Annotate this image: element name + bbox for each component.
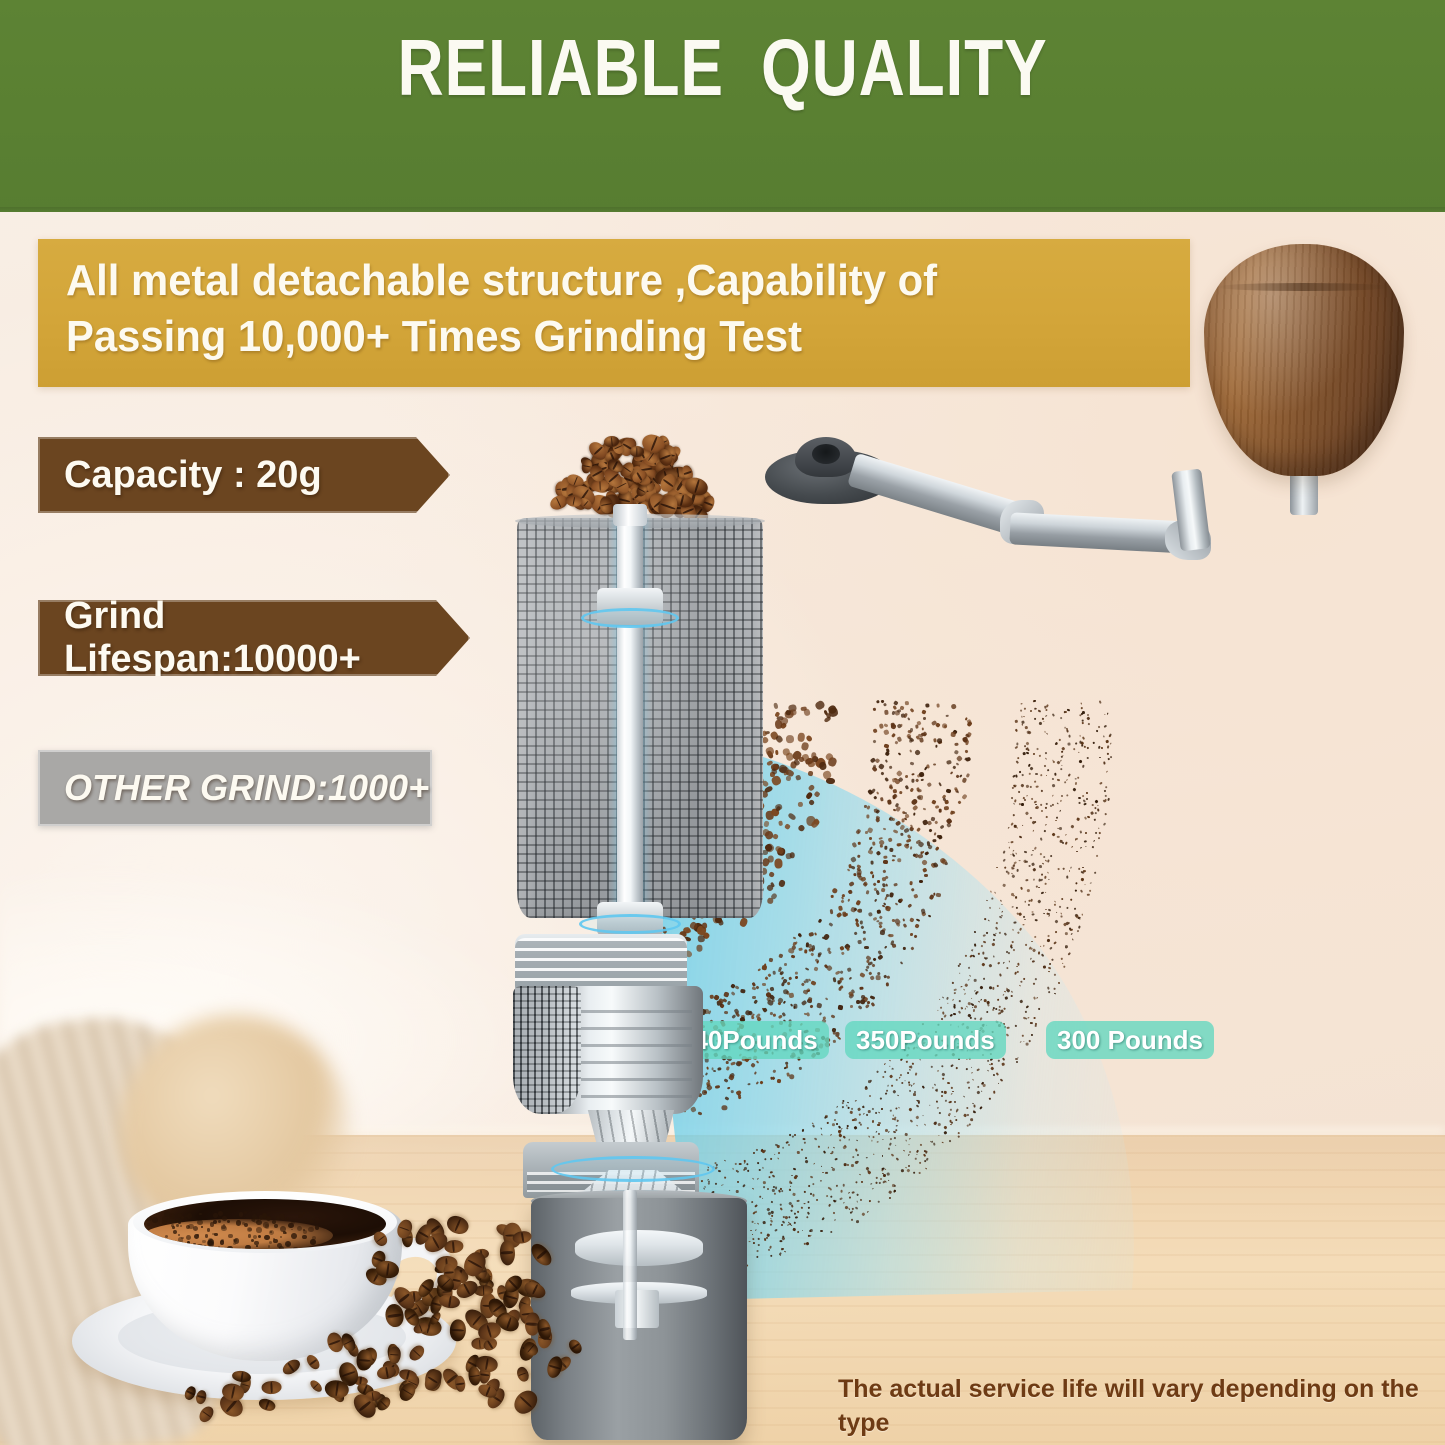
- page-title: RELIABLE QUALITY: [145, 22, 1301, 114]
- crema-bubble: [312, 1216, 314, 1218]
- pressure-pill-300: 300 Pounds: [1046, 1021, 1214, 1059]
- crema-bubble: [199, 1213, 202, 1216]
- coffee-bean: [630, 446, 645, 457]
- crema-bubble: [193, 1243, 195, 1245]
- crema-bubble: [256, 1227, 262, 1233]
- crema-bubble: [274, 1224, 277, 1227]
- crema-bubble: [234, 1238, 240, 1244]
- center-shaft: [617, 512, 643, 958]
- crema-bubble: [247, 1227, 252, 1232]
- crema-bubble: [178, 1234, 180, 1236]
- crema-bubble: [307, 1211, 309, 1213]
- crema-bubble: [170, 1214, 172, 1216]
- crema-bubble: [256, 1245, 258, 1247]
- crema-bubble: [186, 1235, 191, 1240]
- crema-bubble: [147, 1223, 150, 1226]
- crema-bubble: [279, 1214, 284, 1219]
- feature-banner-text: All metal detachable structure ,Capabili…: [66, 253, 1111, 365]
- crema-bubble: [221, 1225, 226, 1230]
- crema-bubble: [315, 1217, 321, 1223]
- shaft-top-cap: [613, 504, 647, 526]
- crema-bubble: [293, 1247, 298, 1249]
- crema-bubble: [303, 1212, 305, 1214]
- threaded-collar-upper: [515, 934, 687, 994]
- blue-ring-lower: [579, 914, 681, 934]
- crema-bubble: [187, 1213, 193, 1219]
- crema-bubble: [305, 1218, 307, 1220]
- grinder-assembly: [505, 430, 805, 1440]
- spec-banner-other-grind: OTHER GRIND:1000+: [38, 750, 432, 826]
- crema-bubble: [291, 1233, 297, 1239]
- crema-bubble: [227, 1220, 230, 1223]
- crema-bubble: [310, 1239, 316, 1245]
- crema-bubble: [194, 1234, 199, 1239]
- crema-bubble: [286, 1217, 289, 1220]
- catch-cup-shaft-stub: [623, 1190, 637, 1340]
- crema-bubble: [210, 1222, 214, 1226]
- crema-bubble: [221, 1239, 224, 1242]
- crema-bubble: [288, 1223, 293, 1228]
- crema-bubble: [310, 1220, 314, 1224]
- blue-ring-upper: [581, 608, 679, 628]
- crema-bubble: [236, 1220, 241, 1225]
- crema-bubble: [298, 1214, 303, 1219]
- coffee-bean: [388, 1346, 401, 1364]
- blue-ring-burr-upper: [551, 1156, 715, 1182]
- crema-bubble: [303, 1230, 307, 1234]
- crema-bubble: [264, 1235, 270, 1241]
- crema-bubble: [214, 1233, 218, 1237]
- crema-bubble: [147, 1215, 152, 1220]
- coffee-surface: [144, 1199, 386, 1249]
- pressure-pill-300-label: 300 Pounds: [1057, 1025, 1203, 1056]
- crema-bubble: [187, 1241, 191, 1245]
- crema-bubble: [297, 1226, 302, 1231]
- crank-hub-socket: [812, 444, 840, 464]
- crema-bubble: [279, 1246, 285, 1249]
- crema-bubble: [253, 1217, 259, 1223]
- spec-banner-grind-lifespan: Grind Lifespan:10000+: [38, 600, 470, 676]
- crema-bubble: [308, 1227, 313, 1232]
- pressure-pill-350-label: 350Pounds: [856, 1025, 995, 1056]
- crema-bubble: [167, 1246, 173, 1249]
- crema-bubble: [254, 1241, 259, 1246]
- spec-label-capacity: Capacity : 20g: [64, 454, 322, 497]
- crema-bubble: [244, 1211, 247, 1214]
- crema-bubble: [218, 1246, 220, 1248]
- pressure-pill-350: 350Pounds: [845, 1021, 1006, 1059]
- header-band: RELIABLE QUALITY: [0, 0, 1445, 212]
- crema-bubble: [285, 1241, 291, 1247]
- crema-bubble: [218, 1220, 221, 1223]
- crema-bubble: [245, 1245, 251, 1249]
- spec-banner-capacity: Capacity : 20g: [38, 437, 450, 513]
- crema-bubble: [222, 1216, 227, 1221]
- crema-bubble: [208, 1238, 213, 1243]
- crema-bubble: [262, 1213, 268, 1219]
- crema-bubble: [152, 1217, 158, 1223]
- feature-banner: All metal detachable structure ,Capabili…: [38, 239, 1190, 387]
- crema-bubble: [263, 1222, 269, 1228]
- product-infographic: RELIABLE QUALITY All metal detachable st…: [0, 0, 1445, 1445]
- textured-grind-ring: [513, 986, 703, 1114]
- spec-label-other-grind: OTHER GRIND:1000+: [64, 767, 429, 809]
- crema-bubble: [283, 1231, 286, 1234]
- crema-bubble: [306, 1221, 308, 1223]
- crema-bubble: [268, 1245, 271, 1248]
- crema-bubble: [180, 1225, 182, 1227]
- disclaimer-text: The actual service life will vary depend…: [838, 1372, 1438, 1445]
- crema-bubble: [227, 1246, 233, 1249]
- crema-bubble: [213, 1213, 217, 1217]
- spec-label-grind-lifespan: Grind Lifespan:10000+: [64, 595, 468, 681]
- grind-adjust-nut: [615, 1290, 659, 1328]
- crema-bubble: [228, 1234, 233, 1239]
- catch-cup-disc-upper: [575, 1230, 703, 1266]
- crema-bubble: [269, 1241, 272, 1244]
